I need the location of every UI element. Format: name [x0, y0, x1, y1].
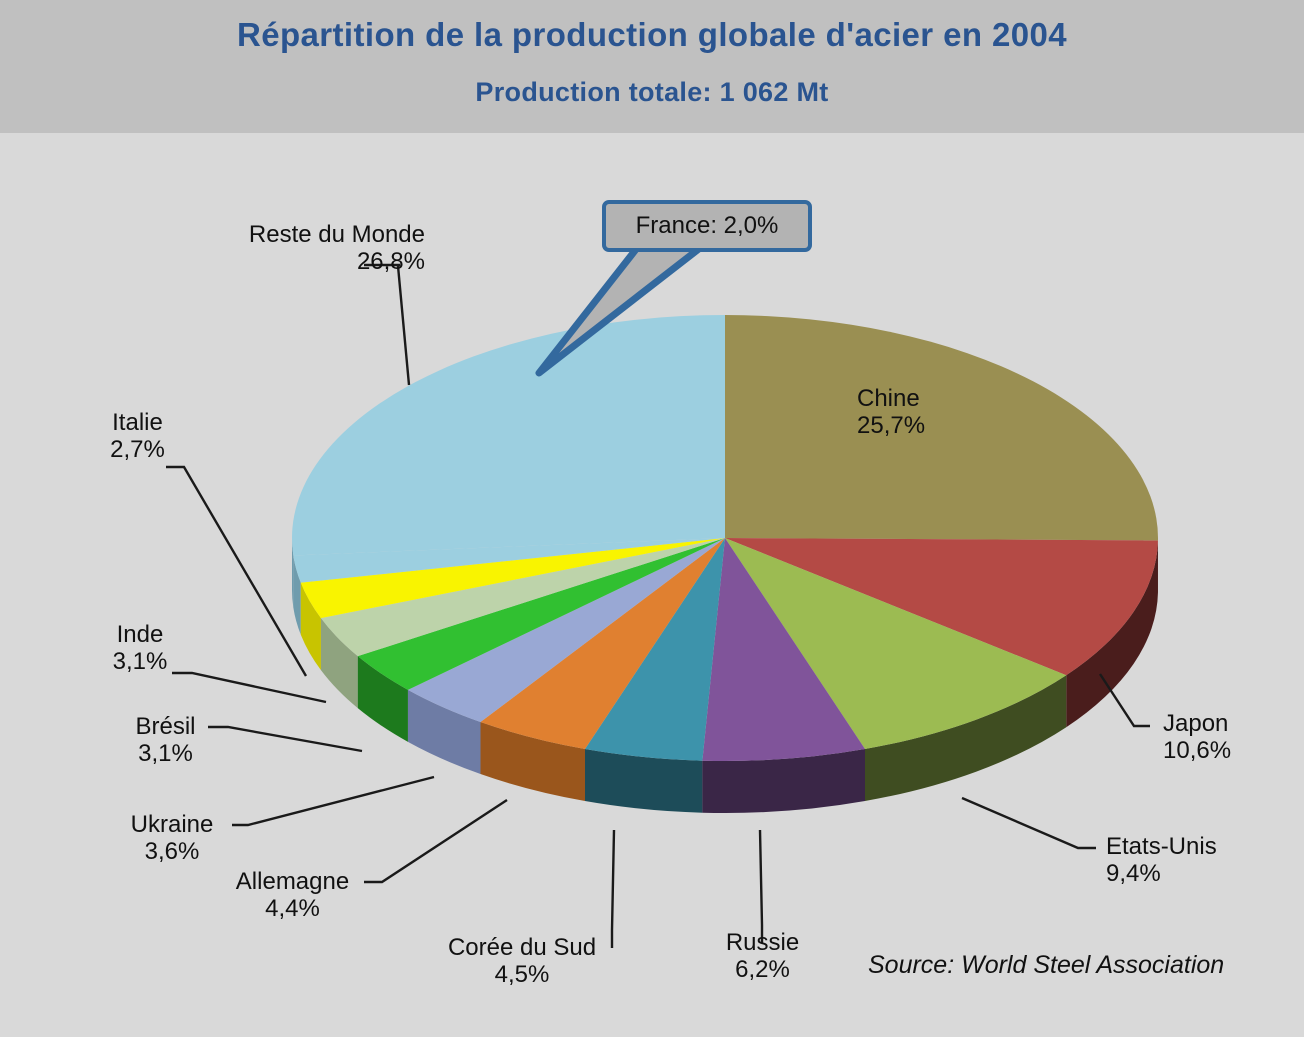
pie-label-etats-unis-pct: 9,4% — [1106, 861, 1217, 888]
pie-label-russie-pct: 6,2% — [690, 957, 835, 984]
pie-label-japon-name: Japon — [1163, 711, 1231, 738]
pie-label-italie-name: Italie — [95, 410, 180, 437]
leader-line-etats-unis — [962, 798, 1096, 848]
pie-label-japon-pct: 10,6% — [1163, 738, 1231, 765]
pie-label-reste-du-monde: Reste du Monde 26,8% — [150, 222, 425, 276]
pie-label-ukraine-name: Ukraine — [112, 812, 232, 839]
pie-label-reste-du-monde-name: Reste du Monde — [150, 222, 425, 249]
leader-line-reste-2 — [398, 266, 409, 385]
pie-label-allemagne-pct: 4,4% — [220, 896, 365, 923]
pie-label-etats-unis: Etats-Unis 9,4% — [1106, 834, 1217, 888]
pie-label-reste-du-monde-pct: 26,8% — [150, 249, 425, 276]
pie-label-italie: Italie 2,7% — [95, 410, 180, 464]
pie-label-coree-du-sud-name: Corée du Sud — [432, 935, 612, 962]
pie-slice-chine[interactable] — [725, 315, 1158, 540]
pie-label-chine: Chine 25,7% — [857, 386, 925, 440]
pie-label-inde-name: Inde — [100, 622, 180, 649]
source-note: Source: World Steel Association — [868, 951, 1224, 980]
pie-label-chine-pct: 25,7% — [857, 413, 925, 440]
pie-label-italie-pct: 2,7% — [95, 437, 180, 464]
chart-canvas: Répartition de la production globale d'a… — [0, 0, 1304, 1037]
leader-line-bresil — [208, 727, 362, 751]
pie-label-ukraine: Ukraine 3,6% — [112, 812, 232, 866]
pie-slice-reste-du-monde[interactable] — [292, 315, 725, 555]
leader-line-inde — [172, 673, 326, 702]
pie-label-inde: Inde 3,1% — [100, 622, 180, 676]
france-callout-text: France: 2,0% — [636, 212, 779, 240]
leader-line-ukraine — [232, 777, 434, 825]
leader-line-italie — [166, 467, 306, 676]
pie-label-japon: Japon 10,6% — [1163, 711, 1231, 765]
pie-label-bresil-name: Brésil — [118, 714, 213, 741]
pie-label-bresil: Brésil 3,1% — [118, 714, 213, 768]
pie-label-coree-du-sud-pct: 4,5% — [432, 962, 612, 989]
pie-label-russie-name: Russie — [690, 930, 835, 957]
pie-label-ukraine-pct: 3,6% — [112, 839, 232, 866]
pie-label-bresil-pct: 3,1% — [118, 741, 213, 768]
pie-label-chine-name: Chine — [857, 386, 925, 413]
pie-label-coree-du-sud: Corée du Sud 4,5% — [432, 935, 612, 989]
pie-label-inde-pct: 3,1% — [100, 649, 180, 676]
pie-label-etats-unis-name: Etats-Unis — [1106, 834, 1217, 861]
pie-label-allemagne: Allemagne 4,4% — [220, 869, 365, 923]
france-callout[interactable]: France: 2,0% — [602, 200, 812, 252]
leader-line-russie — [760, 830, 762, 943]
leader-line-allemagne — [364, 800, 507, 882]
pie-label-allemagne-name: Allemagne — [220, 869, 365, 896]
pie-label-russie: Russie 6,2% — [690, 930, 835, 984]
leader-line-coree — [612, 830, 614, 948]
